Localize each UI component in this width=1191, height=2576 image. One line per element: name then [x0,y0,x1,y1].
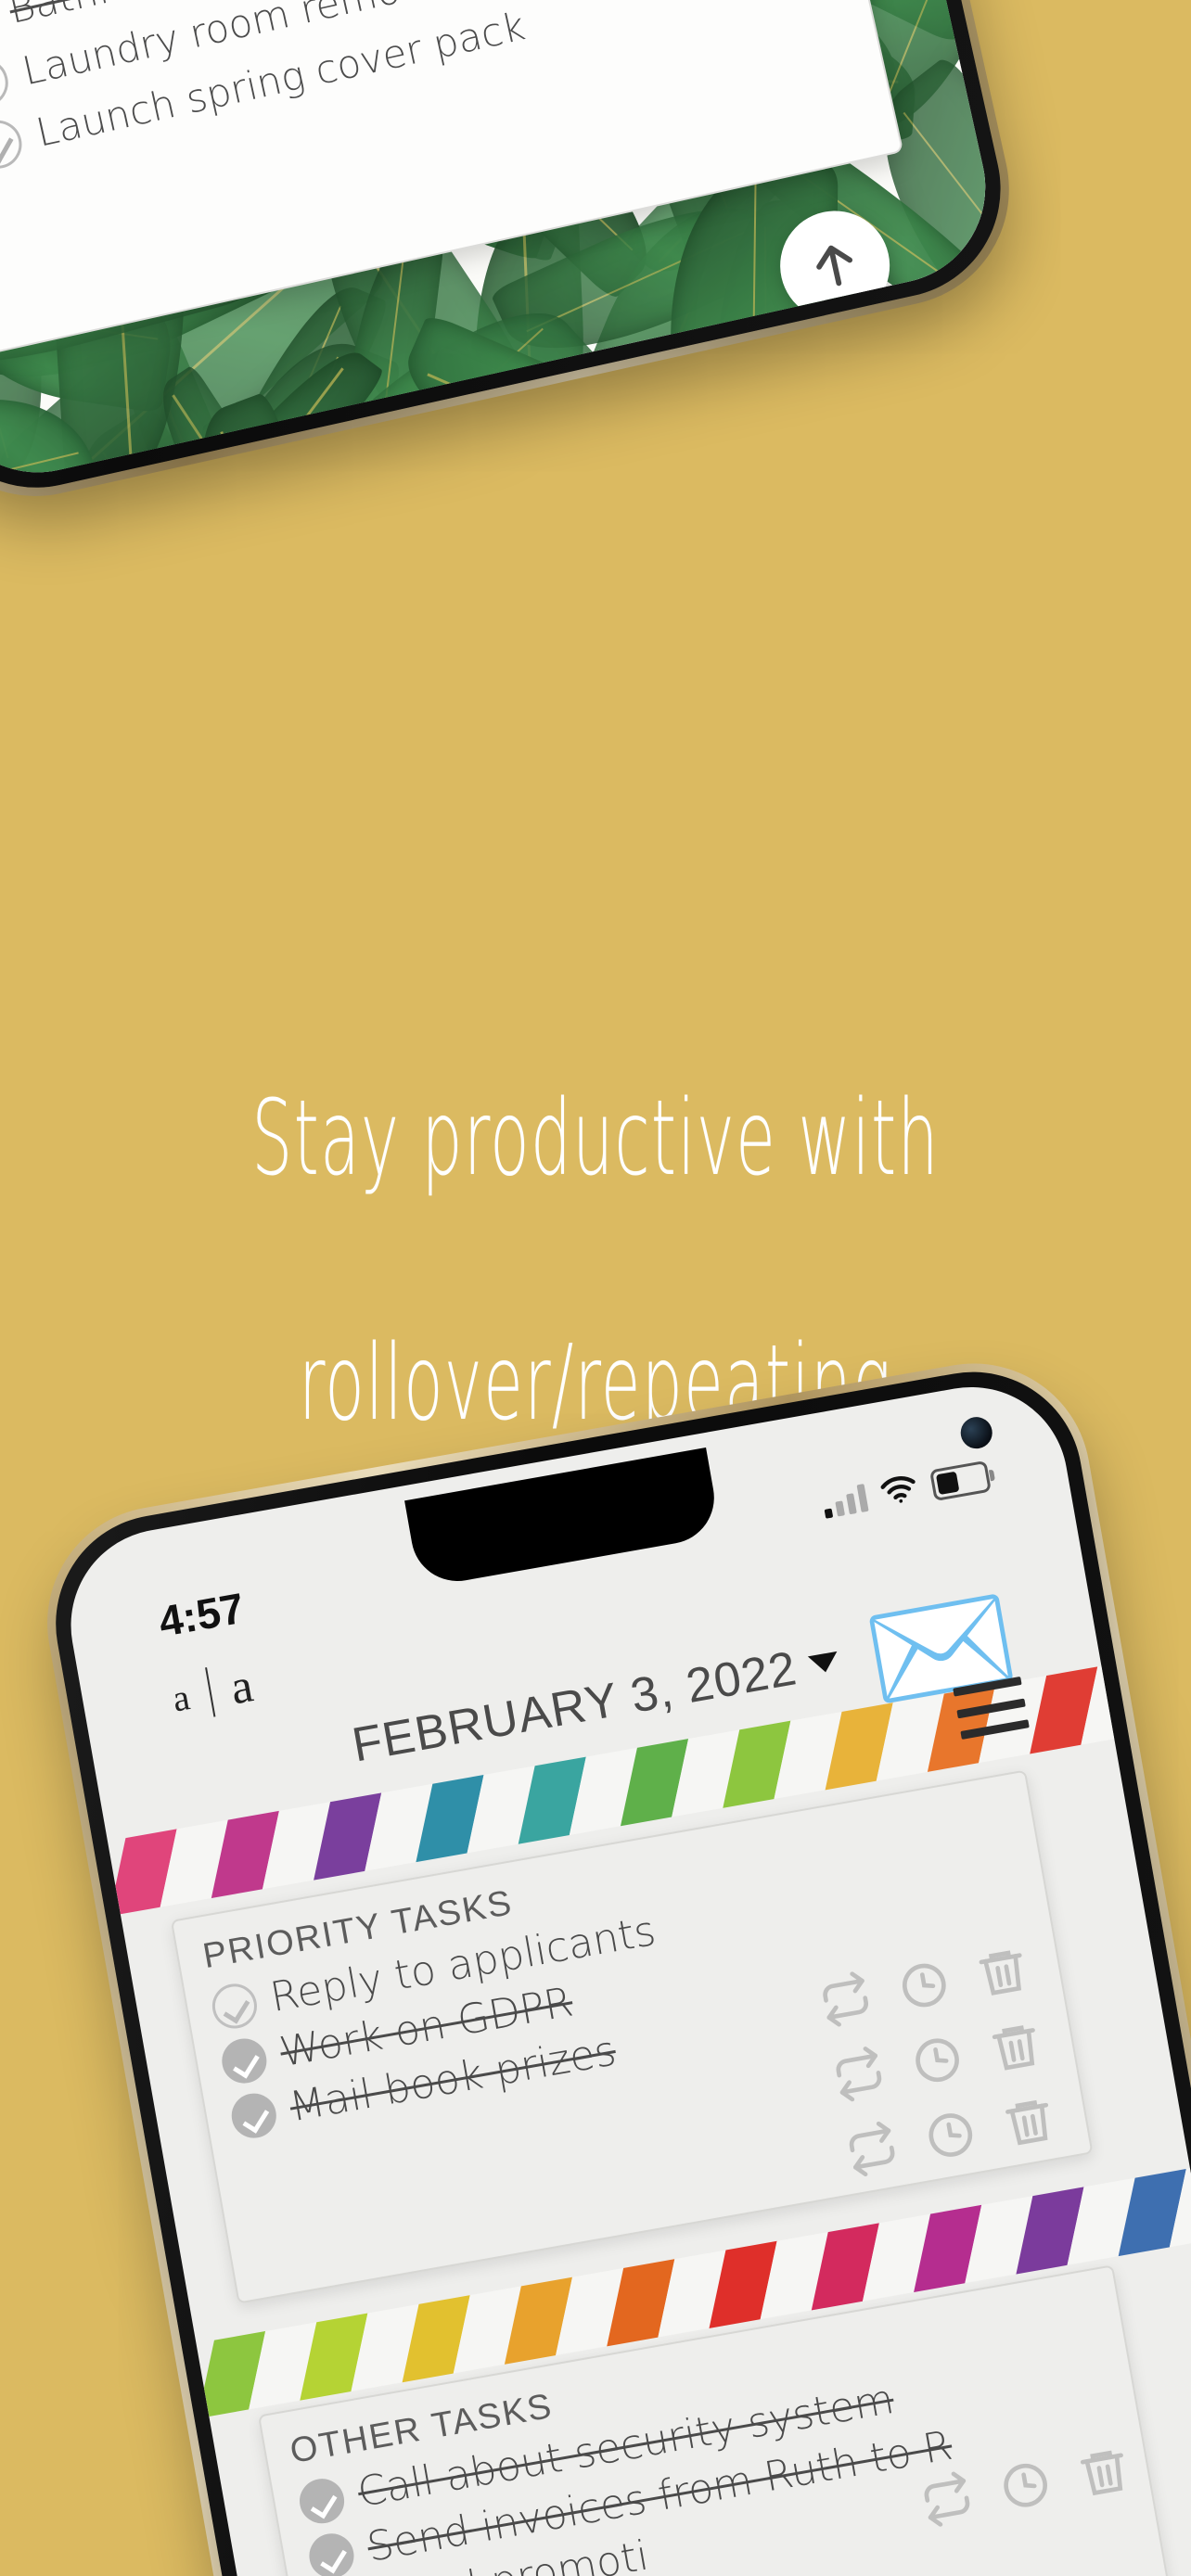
task-action-row[interactable] [828,2016,1045,2104]
repeat-icon[interactable] [842,2119,903,2179]
repeat-icon[interactable] [917,2469,978,2530]
checkbox-checked[interactable] [219,2035,271,2087]
signal-bars-icon [821,1484,868,1519]
battery-icon [929,1460,992,1501]
menu-line [956,1698,1025,1718]
checkbox-unchecked[interactable] [0,116,26,173]
checkbox-checked[interactable] [296,2475,348,2527]
clock-icon[interactable] [894,1956,954,2016]
trash-icon[interactable] [1074,2442,1134,2502]
hamburger-menu-icon [856,377,920,441]
arrow-up-icon [803,234,867,298]
checkbox-unchecked[interactable] [209,1981,261,2033]
leaf-graphic [842,343,1004,461]
promo-canvas: MONTHLY GOALS Bathroom remodel Laundry r… [0,0,1191,2576]
checkbox-checked[interactable] [306,2530,358,2576]
checkbox-unchecked[interactable] [0,54,13,111]
wifi-icon [878,1473,920,1511]
reader-large-a[interactable]: a [226,1658,257,1715]
repeat-icon[interactable] [828,2044,889,2104]
top-phone-mockup: MONTHLY GOALS Bathroom remodel Laundry r… [0,0,1021,508]
chevron-down-icon[interactable] [807,1651,839,1675]
repeat-icon[interactable] [815,1970,876,2030]
status-time: 4:57 [155,1583,248,1647]
bottom-phone-mockup: 4:57 a a [39,1355,1191,2576]
trash-icon[interactable] [973,1942,1033,2002]
headline-line-1: Stay productive with [226,1078,965,1200]
status-icons [821,1460,992,1521]
top-phone-screen: MONTHLY GOALS Bathroom remodel Laundry r… [0,0,1004,491]
reader-small-a[interactable]: a [169,1675,193,1720]
trash-icon[interactable] [986,2016,1046,2076]
bottom-phone-screen: 4:57 a a [56,1371,1191,2576]
clock-icon[interactable] [995,2455,1056,2516]
clock-icon[interactable] [907,2030,967,2090]
toolbar-divider [205,1667,215,1717]
checkbox-checked[interactable] [228,2090,280,2142]
clock-icon[interactable] [920,2105,980,2165]
floating-menu-button[interactable] [813,335,964,485]
priority-task-action-icons [815,1942,1059,2179]
trash-icon[interactable] [999,2091,1059,2151]
